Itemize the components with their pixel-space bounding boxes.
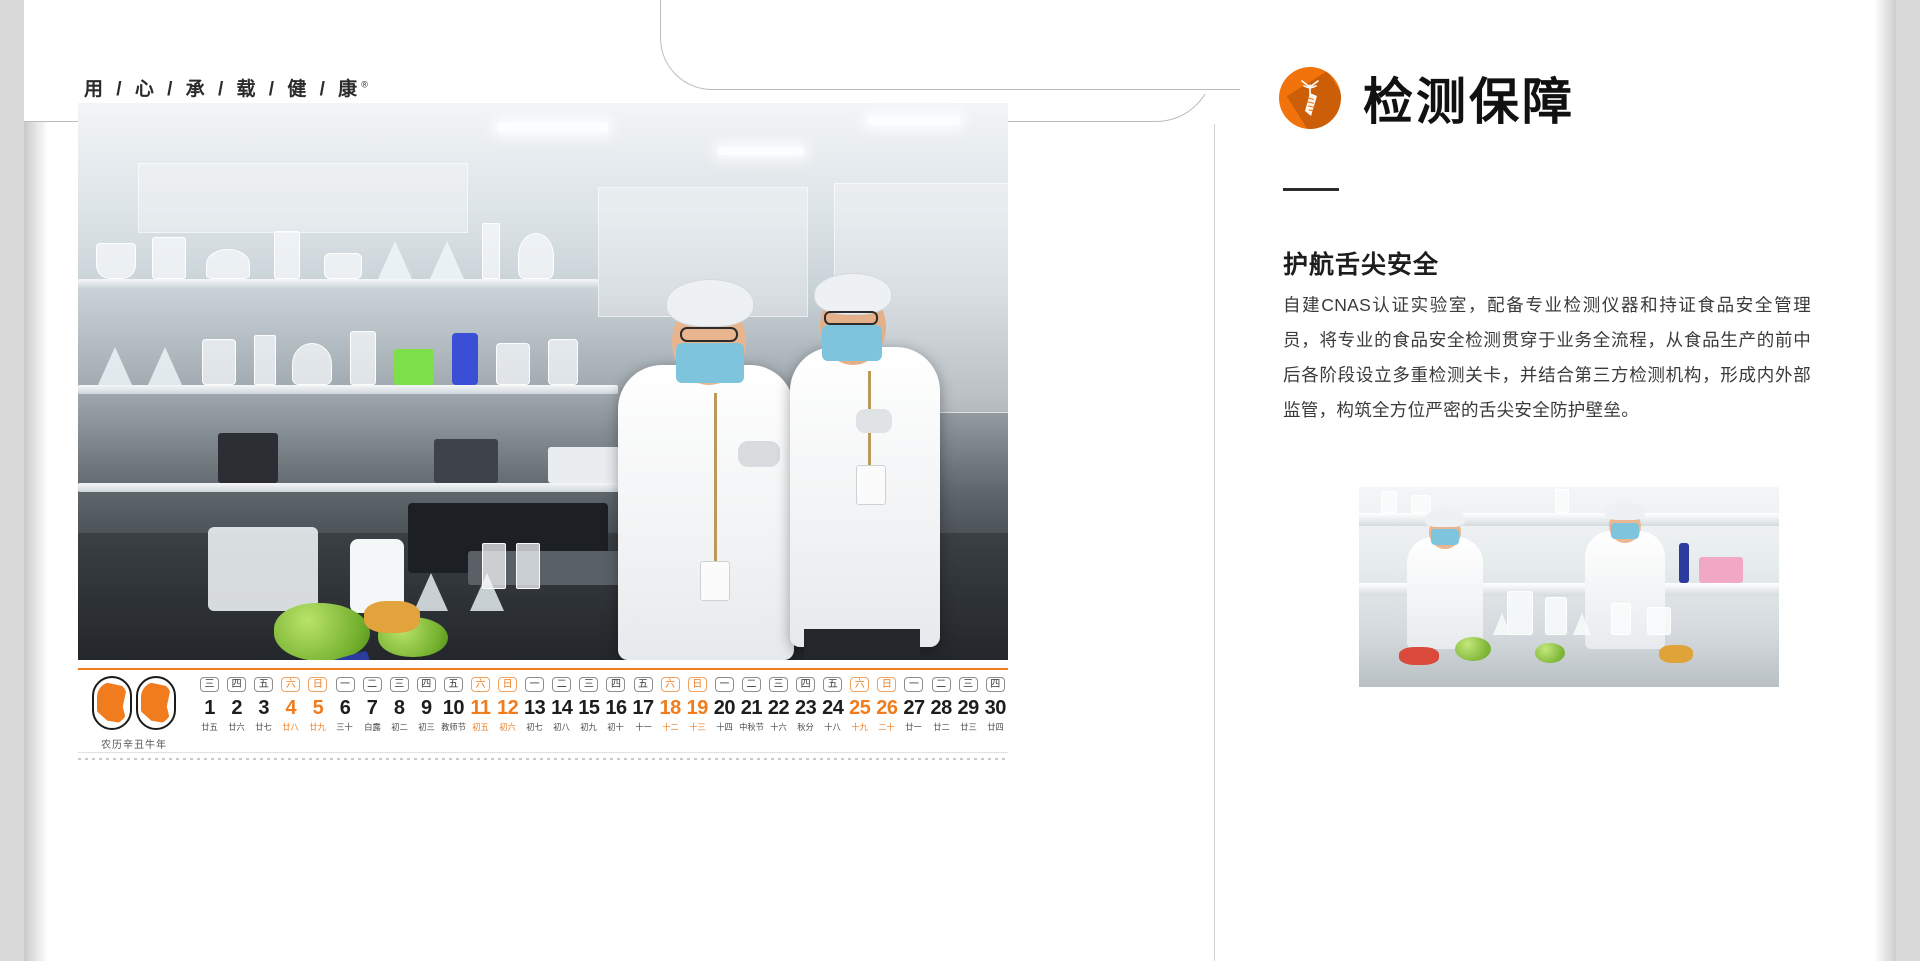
blue-pipette bbox=[1679, 543, 1689, 583]
calendar-day-number: 20 bbox=[711, 695, 738, 721]
calendar-day[interactable]: 五10教师节 bbox=[440, 674, 467, 733]
calendar-lunar-label: 十二 bbox=[658, 721, 683, 732]
calendar-day-number: 11 bbox=[467, 695, 494, 721]
calendar-lunar-label: 十六 bbox=[766, 721, 791, 732]
right-content-panel: 检测保障 护航舌尖安全 自建CNAS认证实验室，配备专业检测仪器和持证食品安全管… bbox=[1239, 0, 1896, 961]
glassware bbox=[152, 237, 186, 279]
lab-shelf bbox=[78, 385, 618, 394]
calendar-day[interactable]: 日5廿九 bbox=[304, 674, 331, 733]
calendar-lunar-label: 白露 bbox=[360, 721, 385, 732]
calendar-lunar-label: 初三 bbox=[414, 721, 439, 732]
erlenmeyer-flask bbox=[1573, 613, 1591, 635]
calendar-weekday: 三 bbox=[200, 677, 219, 692]
lab-shelf bbox=[78, 483, 626, 492]
secondary-shelf bbox=[1359, 513, 1779, 526]
calendar-day[interactable]: 一6三十 bbox=[331, 674, 358, 733]
calendar-weekday: 五 bbox=[634, 677, 653, 692]
graduated-cylinder bbox=[482, 223, 500, 279]
calendar-day-number: 10 bbox=[440, 695, 467, 721]
calendar-day[interactable]: 一20十四 bbox=[711, 674, 738, 733]
glassware bbox=[96, 243, 136, 279]
calendar-lunar-label: 初二 bbox=[387, 721, 412, 732]
calendar-weekday: 六 bbox=[661, 677, 680, 692]
calendar-weekday: 三 bbox=[579, 677, 598, 692]
calendar-top-rule bbox=[78, 668, 1008, 670]
calendar-lunar-label: 廿三 bbox=[956, 721, 981, 732]
calendar-day-number: 21 bbox=[738, 695, 765, 721]
calendar-day-number: 26 bbox=[873, 695, 900, 721]
calendar-day[interactable]: 六25十九 bbox=[846, 674, 873, 733]
secondary-technician-right-mask bbox=[1611, 523, 1639, 539]
ceiling-light bbox=[868, 117, 960, 125]
calendar-day[interactable]: 六4廿八 bbox=[277, 674, 304, 733]
calendar-day-number: 5 bbox=[304, 695, 331, 721]
lab-photo-main bbox=[78, 103, 1008, 660]
calendar-lunar-label: 中秋节 bbox=[739, 721, 764, 732]
sample-rack bbox=[208, 527, 318, 611]
calendar-lunar-label: 初七 bbox=[522, 721, 547, 732]
reagent-bottle bbox=[1545, 597, 1567, 635]
calendar-day[interactable]: 二21中秋节 bbox=[738, 674, 765, 733]
calendar-day-number: 12 bbox=[494, 695, 521, 721]
calendar-day-number: 9 bbox=[413, 695, 440, 721]
calendar-day-number: 2 bbox=[223, 695, 250, 721]
calendar-day-number: 3 bbox=[250, 695, 277, 721]
calendar-lunar-label: 廿一 bbox=[902, 721, 927, 732]
calendar-lunar-label: 廿六 bbox=[224, 721, 249, 732]
calendar-weekday: 二 bbox=[742, 677, 761, 692]
calendar-lunar-label: 十八 bbox=[820, 721, 845, 732]
erlenmeyer-flask bbox=[148, 347, 182, 385]
calendar-day-number: 27 bbox=[900, 695, 927, 721]
calendar-weekday: 四 bbox=[796, 677, 815, 692]
calendar-day-number: 6 bbox=[331, 695, 358, 721]
calendar-day[interactable]: 日12初六 bbox=[494, 674, 521, 733]
calendar-lunar-label: 十九 bbox=[847, 721, 872, 732]
erlenmeyer-flask bbox=[1493, 613, 1511, 635]
calendar-lunar-label: 三十 bbox=[333, 721, 358, 732]
calendar-lunar-label: 十三 bbox=[685, 721, 710, 732]
calendar-day-number: 22 bbox=[765, 695, 792, 721]
zodiac-logo: 农历辛丑牛年 bbox=[80, 676, 188, 760]
calendar-weekday: 一 bbox=[336, 677, 355, 692]
calendar-day-number: 8 bbox=[386, 695, 413, 721]
food-sample bbox=[364, 601, 420, 633]
calendar-lunar-label: 初五 bbox=[468, 721, 493, 732]
secondary-technician-right-cap bbox=[1605, 502, 1645, 520]
calendar-day[interactable]: 三1廿五 bbox=[196, 674, 223, 733]
calendar-day-number: 29 bbox=[955, 695, 982, 721]
calendar-day[interactable]: 四16初十 bbox=[602, 674, 629, 733]
technician-front-glasses bbox=[680, 327, 738, 342]
calendar-weekday: 五 bbox=[823, 677, 842, 692]
calendar-weekday: 四 bbox=[986, 677, 1005, 692]
calendar-day-number: 25 bbox=[846, 695, 873, 721]
section-header: 检测保障 bbox=[1279, 62, 1575, 134]
sample-tray bbox=[1699, 557, 1743, 583]
page-left-shadow bbox=[24, 0, 48, 961]
calendar-day-number: 18 bbox=[657, 695, 684, 721]
calendar-weekday: 二 bbox=[363, 677, 382, 692]
calendar-day[interactable]: 三22十六 bbox=[765, 674, 792, 733]
test-tube bbox=[516, 543, 540, 589]
glassware bbox=[1381, 491, 1397, 513]
calendar-lunar-label: 初十 bbox=[603, 721, 628, 732]
calendar-weekday: 三 bbox=[390, 677, 409, 692]
calendar-lunar-label: 初九 bbox=[576, 721, 601, 732]
calendar-lunar-label: 秋分 bbox=[793, 721, 818, 732]
beaker bbox=[496, 343, 530, 385]
beaker bbox=[1647, 607, 1671, 635]
calendar-weekday: 日 bbox=[877, 677, 896, 692]
technician-front-cap bbox=[666, 279, 754, 327]
calendar-day[interactable]: 四23秋分 bbox=[792, 674, 819, 733]
calendar-weekday: 四 bbox=[417, 677, 436, 692]
calendar-lunar-label: 十一 bbox=[631, 721, 656, 732]
technician-back-cap bbox=[814, 273, 892, 315]
calendar-day[interactable]: 三8初二 bbox=[386, 674, 413, 733]
calendar-day[interactable]: 三15初九 bbox=[575, 674, 602, 733]
test-tube bbox=[482, 543, 506, 589]
registered-mark: ® bbox=[361, 80, 372, 90]
technician-front-id-badge bbox=[700, 561, 730, 601]
blue-instrument bbox=[452, 333, 478, 385]
technician-back-trousers bbox=[804, 629, 920, 660]
calendar-day-number: 7 bbox=[359, 695, 386, 721]
ceiling-light bbox=[718, 147, 804, 155]
calendar-day[interactable]: 五24十八 bbox=[819, 674, 846, 733]
calendar-lunar-label: 初八 bbox=[549, 721, 574, 732]
technician-front-lanyard bbox=[714, 393, 717, 563]
calendar-weekday: 六 bbox=[281, 677, 300, 692]
calendar-day[interactable]: 二7白露 bbox=[359, 674, 386, 733]
food-sample bbox=[1659, 645, 1693, 663]
calendar-day[interactable]: 六11初五 bbox=[467, 674, 494, 733]
calendar-day-number: 14 bbox=[548, 695, 575, 721]
calendar-weekday: 五 bbox=[254, 677, 273, 692]
calendar-weekday: 一 bbox=[715, 677, 734, 692]
calendar-lunar-label: 廿四 bbox=[983, 721, 1008, 732]
erlenmeyer-flask bbox=[98, 347, 132, 385]
calendar-lunar-label: 初六 bbox=[495, 721, 520, 732]
calendar-weekday: 一 bbox=[525, 677, 544, 692]
calendar-weekday: 二 bbox=[552, 677, 571, 692]
calendar-day-number: 17 bbox=[630, 695, 657, 721]
calendar-weekday: 日 bbox=[688, 677, 707, 692]
calendar-weekday: 日 bbox=[498, 677, 517, 692]
calendar-dotted-rule bbox=[78, 758, 1008, 760]
calendar-days: 三1廿五四2廿六五3廿七六4廿八日5廿九一6三十二7白露三8初二四9初三五10教… bbox=[196, 674, 1009, 733]
beaker bbox=[1611, 603, 1631, 635]
vegetable-sample bbox=[1455, 637, 1491, 661]
lettuce-sample bbox=[274, 603, 370, 660]
top-notch-inner-curve bbox=[660, 0, 1240, 90]
calendar-day-number: 30 bbox=[982, 695, 1009, 721]
secondary-technician-left-mask bbox=[1431, 529, 1459, 545]
ox-zodiac-icon bbox=[91, 676, 177, 732]
calendar-bottom-rule bbox=[78, 752, 1008, 753]
calendar-weekday: 四 bbox=[227, 677, 246, 692]
beaker bbox=[202, 339, 236, 385]
brand-tagline-text: 用 / 心 / 承 / 载 / 健 / 康 bbox=[84, 79, 361, 100]
calendar-day-number: 15 bbox=[575, 695, 602, 721]
calendar-day[interactable]: 四2廿六 bbox=[223, 674, 250, 733]
vegetable-sample bbox=[1535, 643, 1565, 663]
calendar-day[interactable]: 四30廿四 bbox=[982, 674, 1009, 733]
lab-instrument bbox=[218, 433, 278, 483]
carrot-icon bbox=[1279, 67, 1341, 129]
technician-front-coat bbox=[618, 365, 794, 660]
calendar-lunar-label: 廿八 bbox=[278, 721, 303, 732]
reagent-bottle bbox=[350, 331, 376, 385]
calendar-day-number: 28 bbox=[928, 695, 955, 721]
calendar-weekday: 三 bbox=[959, 677, 978, 692]
technician-back-glasses bbox=[824, 311, 878, 325]
calendar-day-number: 19 bbox=[684, 695, 711, 721]
calendar-lunar-label: 廿二 bbox=[929, 721, 954, 732]
calendar-day-number: 4 bbox=[277, 695, 304, 721]
zodiac-caption: 农历辛丑牛年 bbox=[80, 736, 188, 751]
erlenmeyer-flask bbox=[378, 241, 412, 279]
lab-instrument bbox=[548, 447, 620, 483]
beaker bbox=[548, 339, 578, 385]
technician-back-id-badge bbox=[856, 465, 886, 505]
calendar-day[interactable]: 日19十三 bbox=[684, 674, 711, 733]
calendar-weekday: 二 bbox=[932, 677, 951, 692]
calendar-strip: 农历辛丑牛年 三1廿五四2廿六五3廿七六4廿八日5廿九一6三十二7白露三8初二四… bbox=[78, 668, 1008, 760]
calendar-day[interactable]: 二14初八 bbox=[548, 674, 575, 733]
calendar-day[interactable]: 五3廿七 bbox=[250, 674, 277, 733]
calendar-day[interactable]: 一27廿一 bbox=[900, 674, 927, 733]
calendar-day-number: 23 bbox=[792, 695, 819, 721]
secondary-technician-left-cap bbox=[1425, 509, 1465, 527]
calendar-day[interactable]: 二28廿二 bbox=[928, 674, 955, 733]
calendar-lunar-label: 廿七 bbox=[251, 721, 276, 732]
section-paragraph: 自建CNAS认证实验室，配备专业检测仪器和持证食品安全管理员，将专业的食品安全检… bbox=[1283, 288, 1811, 428]
page-title: 检测保障 bbox=[1363, 62, 1575, 134]
calendar-weekday: 六 bbox=[471, 677, 490, 692]
calendar-day[interactable]: 一13初七 bbox=[521, 674, 548, 733]
calendar-day-number: 13 bbox=[521, 695, 548, 721]
glassware bbox=[324, 253, 362, 279]
lab-shelf bbox=[78, 279, 598, 288]
gloved-hand bbox=[738, 441, 780, 467]
brand-tagline: 用 / 心 / 承 / 载 / 健 / 康® bbox=[84, 74, 372, 101]
calendar-weekday: 六 bbox=[850, 677, 869, 692]
panel-divider bbox=[1214, 124, 1215, 961]
calendar-day-number: 24 bbox=[819, 695, 846, 721]
calendar-day-number: 1 bbox=[196, 695, 223, 721]
ceiling-light bbox=[498, 123, 608, 132]
calendar-lunar-label: 二十 bbox=[874, 721, 899, 732]
lab-instrument bbox=[434, 439, 498, 483]
section-subtitle: 护航舌尖安全 bbox=[1283, 245, 1439, 281]
calendar-weekday: 四 bbox=[606, 677, 625, 692]
calendar-weekday: 五 bbox=[444, 677, 463, 692]
technician-front-mask bbox=[676, 343, 744, 383]
calendar-lunar-label: 廿五 bbox=[197, 721, 222, 732]
brochure-page: 用 / 心 / 承 / 载 / 健 / 康® bbox=[24, 0, 1896, 961]
food-sample bbox=[1399, 647, 1439, 665]
technician-back-mask bbox=[822, 325, 882, 361]
glassware bbox=[1555, 489, 1569, 513]
gloved-hand bbox=[856, 409, 892, 433]
glassware bbox=[206, 249, 250, 279]
calendar-day[interactable]: 三29廿三 bbox=[955, 674, 982, 733]
calendar-day-number: 16 bbox=[602, 695, 629, 721]
green-reagent bbox=[394, 349, 434, 385]
calendar-lunar-label: 教师节 bbox=[441, 721, 466, 732]
calendar-day[interactable]: 日26二十 bbox=[873, 674, 900, 733]
calendar-weekday: 日 bbox=[308, 677, 327, 692]
erlenmeyer-flask bbox=[430, 241, 464, 279]
calendar-weekday: 一 bbox=[904, 677, 923, 692]
erlenmeyer-flask bbox=[414, 573, 448, 611]
secondary-technician-left-coat bbox=[1407, 537, 1483, 649]
title-underline bbox=[1283, 188, 1339, 191]
round-flask bbox=[292, 343, 332, 385]
calendar-day[interactable]: 六18十二 bbox=[657, 674, 684, 733]
calendar-lunar-label: 十四 bbox=[712, 721, 737, 732]
calendar-lunar-label: 廿九 bbox=[305, 721, 330, 732]
lab-upper-glass bbox=[138, 163, 468, 233]
test-tube bbox=[254, 335, 276, 385]
lab-photo-secondary bbox=[1359, 487, 1779, 687]
calendar-day[interactable]: 五17十一 bbox=[630, 674, 657, 733]
glassware bbox=[1411, 495, 1431, 513]
round-flask bbox=[518, 233, 554, 279]
glassware bbox=[274, 231, 300, 279]
calendar-weekday: 三 bbox=[769, 677, 788, 692]
calendar-day[interactable]: 四9初三 bbox=[413, 674, 440, 733]
